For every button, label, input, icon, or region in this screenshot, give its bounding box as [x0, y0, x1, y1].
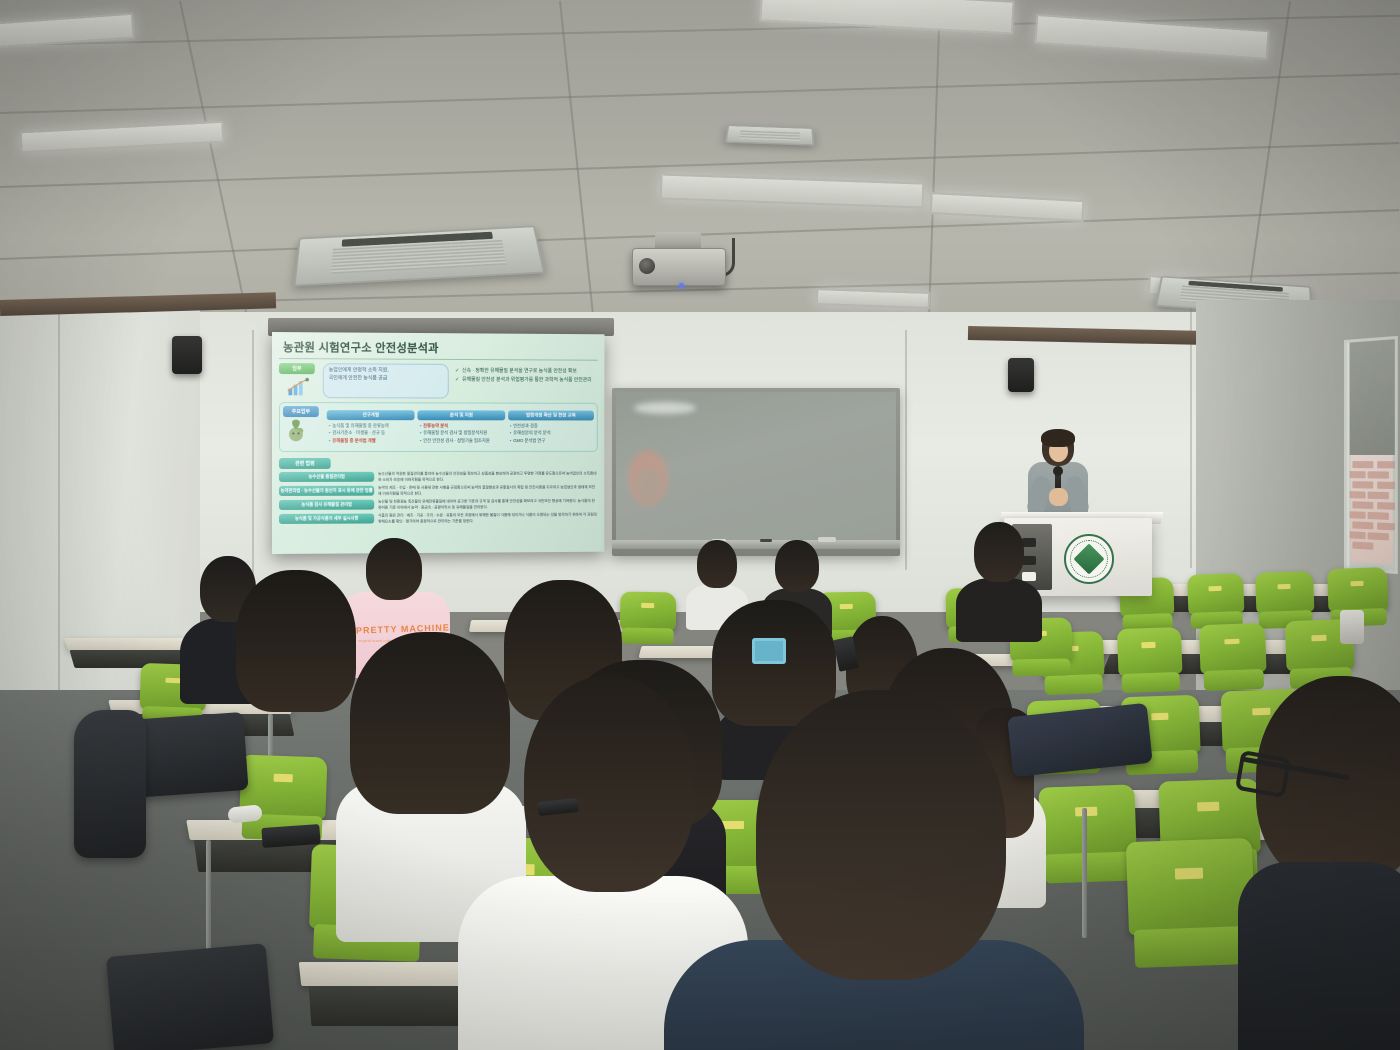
- law-row: 농수산물 품질관리법 농수산물의 적정한 품질관리를 통하여 농수산물의 안전성…: [279, 471, 598, 483]
- backpack: [74, 710, 146, 858]
- mission-check-list: 신속 · 정확한 유해물질 분석을 연구로 농식품 안전성 확보 유해물질 안전…: [453, 364, 598, 399]
- presentation-slide: 농관원 시험연구소 안전성분석과 임무 농업인에게 안정적 소득 지원, 국민에…: [272, 332, 604, 554]
- backpack: [106, 943, 274, 1050]
- duty-item: 검사기준소 · 미생물 · 신규 등: [329, 429, 413, 436]
- wall-speaker: [1008, 358, 1034, 392]
- slide-title: 농관원 시험연구소 안전성분석과: [279, 336, 598, 361]
- chair-label: [1151, 713, 1168, 721]
- duty-item: 잔류농약 분석: [420, 422, 503, 429]
- mission-tag: 임무: [279, 363, 315, 374]
- duty-item: 유해물질 중 분석법 개발: [329, 437, 413, 444]
- law-text: 농수산물의 적정한 품질관리를 통하여 농수산물의 안전성을 확보하고 상품성을…: [378, 471, 598, 482]
- lecture-hall-scene: 농관원 시험연구소 안전성분석과 임무 농업인에게 안정적 소득 지원, 국민에…: [0, 0, 1400, 1050]
- audience-member: [956, 522, 1042, 632]
- laws-tag: 관련 법령: [279, 458, 331, 469]
- law-label: 농식품 검사 유해물질 관리법: [279, 500, 374, 510]
- person-torso: [956, 578, 1042, 642]
- duty-column: 법령개정 확산 및 현장 교육 안전성과 검증 유해성분의 분석 분석 GMO …: [508, 411, 594, 444]
- mission-line: 국민에게 안전한 농식품 공급: [329, 375, 444, 383]
- chair-label: [1142, 642, 1156, 648]
- duty-item: 유해성분의 분석 분석: [510, 430, 592, 437]
- ceiling-ac-vent: [725, 125, 815, 146]
- law-row: 농식품 검사 유해물질 관리법 농산물 및 친환경농 축산물의 유해잔류물질에 …: [279, 499, 598, 511]
- ceiling-projector: [632, 248, 726, 286]
- law-label: 농약관리법 · 농수산물의 원산지 표시 등에 관한 법률: [279, 486, 374, 496]
- duty-tag: 주요업무: [283, 406, 319, 417]
- chair-back: [1117, 627, 1183, 677]
- ceiling-ac-cassette: [293, 226, 545, 287]
- projector-led: [679, 283, 684, 288]
- university-seal-icon: [1064, 534, 1114, 584]
- hair-clip-icon: [752, 638, 786, 664]
- slide-duty-block: 주요업무 연구개발 농식품 및 유해물질 중 잔류농약 검사기: [279, 402, 598, 452]
- duty-item: GMO 분석법 연구: [510, 437, 592, 444]
- mission-check-item: 유해물질 안전성 분석과 위험평가를 통한 과학적 농식품 안전관리: [455, 376, 596, 385]
- eyeglasses-lens-icon: [1235, 750, 1291, 798]
- law-text: 농산물 및 친환경농 축산물의 유해잔류물질에 대하여 공고한 기준과 규격 및…: [378, 499, 598, 511]
- duty-column-body: 농식품 및 유해물질 중 잔류농약 검사기준소 · 미생물 · 신규 등 유해물…: [327, 422, 415, 444]
- chair-label: [1197, 802, 1219, 812]
- law-text: 식품의 원료 관리 · 제조 · 가공 · 조리 · 소분 · 유통의 모든 과…: [378, 513, 598, 525]
- chair-label: [1277, 584, 1290, 589]
- audience-member: [1238, 676, 1400, 1050]
- law-text: 농약의 제조 · 수입 · 판매 및 사용에 관한 사항을 규정함으로써 농약의…: [378, 485, 598, 497]
- law-label: 농수산물 품질관리법: [279, 472, 374, 482]
- chair-back: [1126, 838, 1255, 936]
- chair-back: [620, 592, 677, 631]
- laws-list: 농수산물 품질관리법 농수산물의 적정한 품질관리를 통하여 농수산물의 안전성…: [279, 471, 598, 525]
- duty-column-body: 안전성과 검증 유해성분의 분석 분석 GMO 분석법 연구: [508, 422, 594, 443]
- ceiling-light-panel: [816, 288, 931, 309]
- roller-blind[interactable]: [1347, 339, 1395, 455]
- duty-item: 안전 안전성 검사 · 정밀기술 협조지원: [420, 437, 503, 444]
- whiteboard: [616, 392, 896, 540]
- chair-back: [1199, 623, 1267, 674]
- projection-screen: 농관원 시험연구소 안전성분석과 임무 농업인에게 안정적 소득 지원, 국민에…: [272, 332, 604, 554]
- chair-label: [1224, 638, 1239, 644]
- chair[interactable]: [1126, 838, 1256, 968]
- chair-label: [1175, 867, 1203, 879]
- duty-column: 분석 및 지원 잔류농약 분석 유해물질 분석 검사 및 정밀분석지원 안전 안…: [418, 410, 505, 443]
- chair[interactable]: [620, 592, 677, 645]
- microphone-head: [1053, 466, 1063, 476]
- duty-column-body: 잔류농약 분석 유해물질 분석 검사 및 정밀분석지원 안전 안전성 검사 · …: [418, 422, 505, 444]
- window: [1344, 336, 1398, 574]
- chair-back: [1327, 567, 1388, 612]
- tumbler: [1340, 610, 1364, 644]
- ceiling-light-panel: [930, 192, 1085, 222]
- chair-seat: [622, 628, 674, 644]
- mission-line: 농업인에게 안정적 소득 지원,: [329, 367, 444, 375]
- duty-item: 유해물질 분석 검사 및 정밀분석지원: [420, 429, 503, 436]
- desk-leg: [206, 840, 211, 960]
- desk: [64, 638, 198, 650]
- mission-bubble: 농업인에게 안정적 소득 지원, 국민에게 안전한 농식품 공급: [323, 363, 449, 398]
- chair-label: [1311, 635, 1326, 642]
- presenter-hair: [1041, 429, 1075, 447]
- chair-back: [1187, 573, 1244, 615]
- person-torso: [1238, 862, 1400, 1050]
- law-row: 농약관리법 · 농수산물의 원산지 표시 등에 관한 법률 농약의 제조 · 수…: [279, 485, 598, 497]
- duty-column-header: 분석 및 지원: [418, 410, 505, 420]
- window-pane: [1351, 455, 1393, 564]
- ceiling-light-panel: [20, 121, 225, 154]
- chair-label: [165, 677, 180, 683]
- presenter-hands: [1049, 488, 1068, 506]
- chair[interactable]: [1117, 627, 1183, 693]
- growth-chart-icon: [284, 376, 314, 398]
- duty-item: 농식품 및 유해물질 중 잔류농약: [329, 422, 413, 429]
- law-row: 농식품 및 가공식품의 세부 실시사항 식품의 원료 관리 · 제조 · 가공 …: [279, 513, 598, 526]
- person-head: [775, 540, 819, 592]
- ceiling: [0, 0, 1400, 330]
- chair-label: [840, 604, 853, 609]
- wall-speaker: [172, 336, 202, 374]
- person-head: [366, 538, 422, 600]
- duty-column: 연구개발 농식품 및 유해물질 중 잔류농약 검사기준소 · 미생물 · 신규 …: [327, 410, 415, 444]
- person-head: [697, 540, 737, 588]
- person-head: [974, 522, 1024, 582]
- slide-mission-row: 임무 농업인에게 안정적 소득 지원, 국민에게 안전한 농식품 공급 신속 ·…: [279, 363, 598, 399]
- duty-column-header: 법령개정 확산 및 현장 교육: [508, 411, 594, 421]
- chair[interactable]: [1187, 573, 1245, 629]
- ceiling-light-panel: [660, 173, 925, 208]
- chair-label: [273, 774, 292, 782]
- projector-lens: [639, 258, 655, 274]
- chair-label: [1209, 586, 1221, 591]
- person-head: [756, 690, 1006, 980]
- ceiling-light-panel: [759, 0, 1014, 35]
- chair-back: [1255, 571, 1314, 614]
- chair-label: [641, 603, 653, 608]
- duty-column-header: 연구개발: [327, 410, 415, 420]
- whiteboard-marker-tray: [612, 540, 900, 549]
- chair-label: [1350, 581, 1363, 587]
- duty-item: 안전성과 검증: [510, 422, 592, 429]
- law-label: 농식품 및 가공식품의 세부 실시사항: [279, 514, 374, 524]
- chair-seat: [1134, 926, 1251, 968]
- chair-seat: [1121, 672, 1181, 693]
- plant-mascot-icon: [283, 417, 309, 443]
- smartphone[interactable]: [261, 824, 320, 848]
